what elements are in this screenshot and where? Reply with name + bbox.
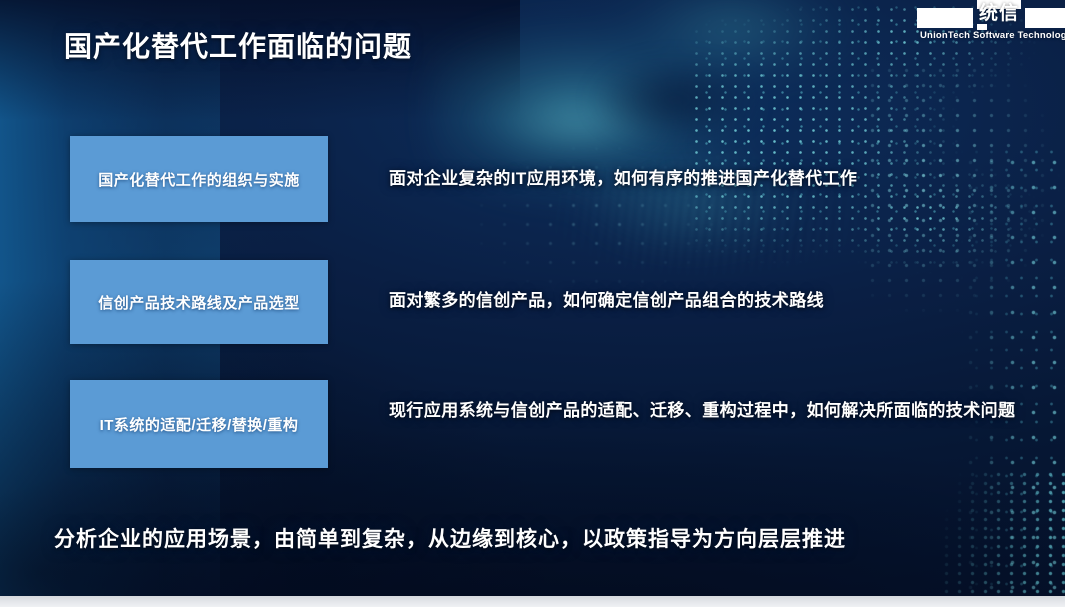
topic-description-1: 面对企业复杂的IT应用环境，如何有序的推进国产化替代工作 bbox=[389, 162, 1029, 196]
page-title: 国产化替代工作面临的问题 bbox=[64, 25, 412, 65]
logo-name-en: UnionTech Software Technology C bbox=[920, 30, 1065, 41]
logo-name-cn: 统信 bbox=[979, 3, 1019, 25]
uniontech-logo: 统信 UnionTech Software Technology C bbox=[917, 0, 1065, 46]
topic-description-2: 面对繁多的信创产品，如何确定信创产品组合的技术路线 bbox=[389, 284, 1029, 318]
topic-description-3: 现行应用系统与信创产品的适配、迁移、重构过程中，如何解决所面临的技术问题 bbox=[389, 394, 1019, 428]
presentation-slide: 统信 UnionTech Software Technology C 国产化替代… bbox=[0, 0, 1065, 596]
topic-box-1[interactable]: 国产化替代工作的组织与实施 bbox=[70, 136, 328, 222]
topic-box-1-label: 国产化替代工作的组织与实施 bbox=[98, 169, 300, 190]
topic-box-2[interactable]: 信创产品技术路线及产品选型 bbox=[70, 260, 328, 344]
topic-box-3-label: IT系统的适配/迁移/替换/重构 bbox=[100, 414, 299, 435]
topic-box-2-label: 信创产品技术路线及产品选型 bbox=[98, 292, 300, 313]
topic-box-3[interactable]: IT系统的适配/迁移/替换/重构 bbox=[70, 380, 328, 468]
slide-summary: 分析企业的应用场景，由简单到复杂，从边缘到核心，以政策指导为方向层层推进 bbox=[54, 523, 846, 553]
application-chrome-bar bbox=[0, 596, 1065, 607]
